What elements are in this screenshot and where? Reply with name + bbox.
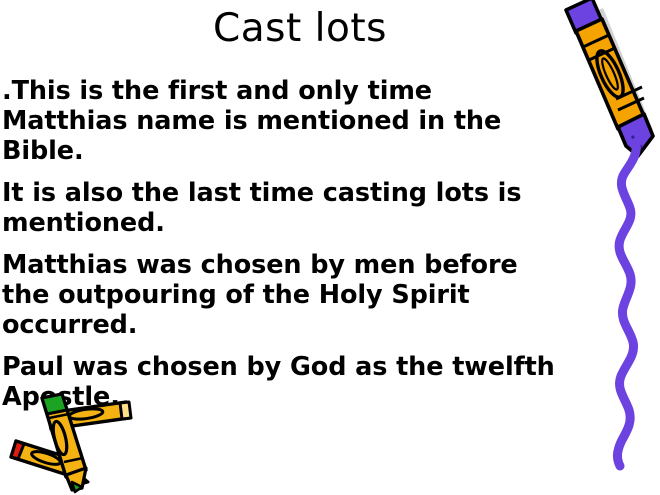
- purple-squiggle-icon: [586, 140, 660, 480]
- page-title: Cast lots: [0, 8, 600, 51]
- slide-body-text: .This is the first and only time Matthia…: [2, 76, 558, 412]
- body-paragraph-3: Matthias was chosen by men before the ou…: [2, 250, 558, 340]
- body-paragraph-2: It is also the last time casting lots is…: [2, 178, 558, 238]
- squiggle-path: [617, 142, 636, 466]
- crayon-barrel: [576, 19, 644, 129]
- presentation-slide: Cast lots .This is the first and only ti…: [0, 0, 660, 495]
- crayons-group-icon: [8, 386, 148, 495]
- body-paragraph-1: .This is the first and only time Matthia…: [2, 76, 558, 166]
